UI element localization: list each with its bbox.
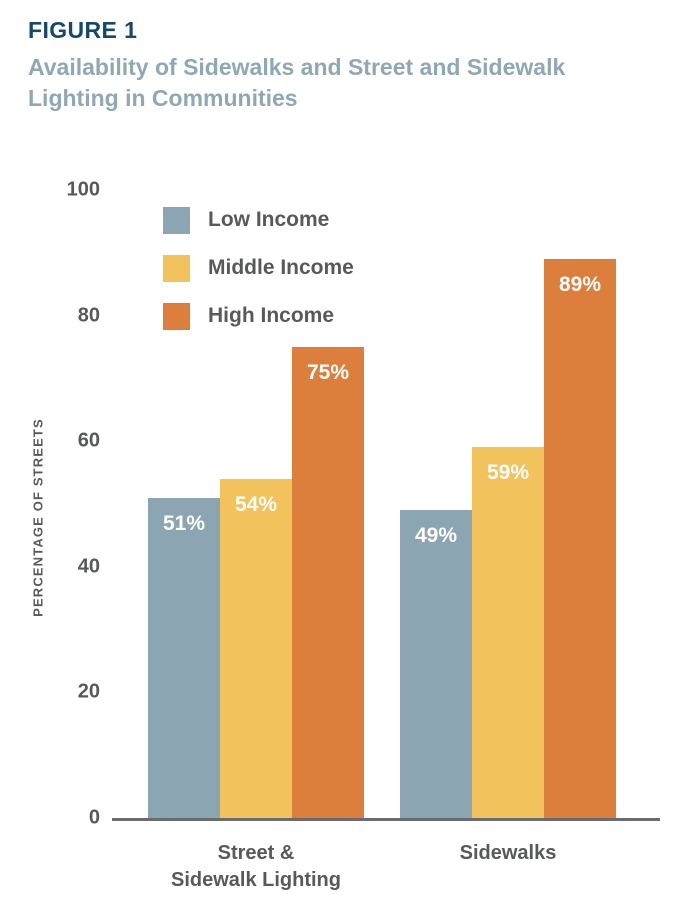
legend-item-high-income: High Income [163, 292, 354, 340]
x-category-label-line: Sidewalks [368, 840, 648, 867]
bar-lighting-high-income: 75% [292, 347, 364, 818]
x-category-label-sidewalks: Sidewalks [368, 840, 648, 867]
legend-item-low-income: Low Income [163, 196, 354, 244]
bar-sidewalks-middle-income: 59% [472, 447, 544, 818]
legend-swatch-low-income [163, 207, 190, 234]
bar-lighting-high-income-value-label: 75% [292, 361, 364, 385]
x-category-label-street-sidewalk-lighting: Street &Sidewalk Lighting [116, 840, 396, 894]
bar-lighting-low-income: 51% [148, 498, 220, 818]
bars-layer: 51%54%75%49%59%89% [0, 0, 673, 913]
x-category-label-line: Street & [116, 840, 396, 867]
plot-area: PERCENTAGE OF STREETS 100806040200 51%54… [0, 0, 673, 913]
bar-lighting-low-income-value-label: 51% [148, 512, 220, 536]
bar-sidewalks-high-income: 89% [544, 259, 616, 818]
legend-label-1: Middle Income [208, 256, 354, 280]
chart-legend: Low IncomeMiddle IncomeHigh Income [163, 196, 354, 340]
x-category-label-line: Sidewalk Lighting [116, 867, 396, 894]
bar-lighting-middle-income-value-label: 54% [220, 493, 292, 517]
bar-sidewalks-middle-income-value-label: 59% [472, 461, 544, 485]
figure-1-chart: FIGURE 1 Availability of Sidewalks and S… [0, 0, 673, 913]
legend-swatch-high-income [163, 303, 190, 330]
legend-label-2: High Income [208, 304, 334, 328]
legend-label-0: Low Income [208, 208, 329, 232]
bar-sidewalks-high-income-value-label: 89% [544, 273, 616, 297]
bar-sidewalks-low-income: 49% [400, 510, 472, 818]
legend-item-middle-income: Middle Income [163, 244, 354, 292]
bar-lighting-middle-income: 54% [220, 479, 292, 818]
legend-swatch-middle-income [163, 255, 190, 282]
bar-sidewalks-low-income-value-label: 49% [400, 524, 472, 548]
